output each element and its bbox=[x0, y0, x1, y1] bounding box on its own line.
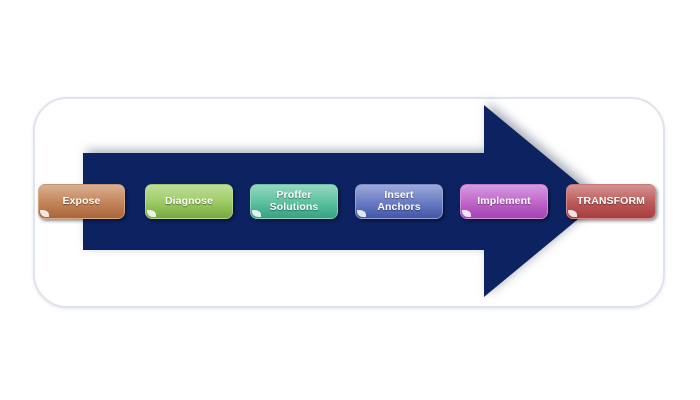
diagram-canvas: Expose Diagnose ProfferSolutions InsertA… bbox=[0, 0, 700, 400]
step-implement[interactable]: Implement bbox=[460, 184, 548, 219]
step-diagnose[interactable]: Diagnose bbox=[145, 184, 233, 219]
step-proffer-solutions-label: ProfferSolutions bbox=[266, 190, 323, 213]
step-expose[interactable]: Expose bbox=[38, 184, 125, 219]
step-insert-anchors-label: InsertAnchors bbox=[373, 190, 424, 213]
step-implement-label: Implement bbox=[473, 196, 534, 208]
step-transform[interactable]: TRANSFORM bbox=[566, 184, 656, 219]
step-proffer-solutions[interactable]: ProfferSolutions bbox=[250, 184, 338, 219]
step-insert-anchors[interactable]: InsertAnchors bbox=[355, 184, 443, 219]
step-expose-label: Expose bbox=[59, 196, 105, 208]
step-transform-label: TRANSFORM bbox=[573, 196, 649, 208]
step-diagnose-label: Diagnose bbox=[161, 196, 217, 208]
step-list: Expose Diagnose ProfferSolutions InsertA… bbox=[0, 0, 700, 400]
